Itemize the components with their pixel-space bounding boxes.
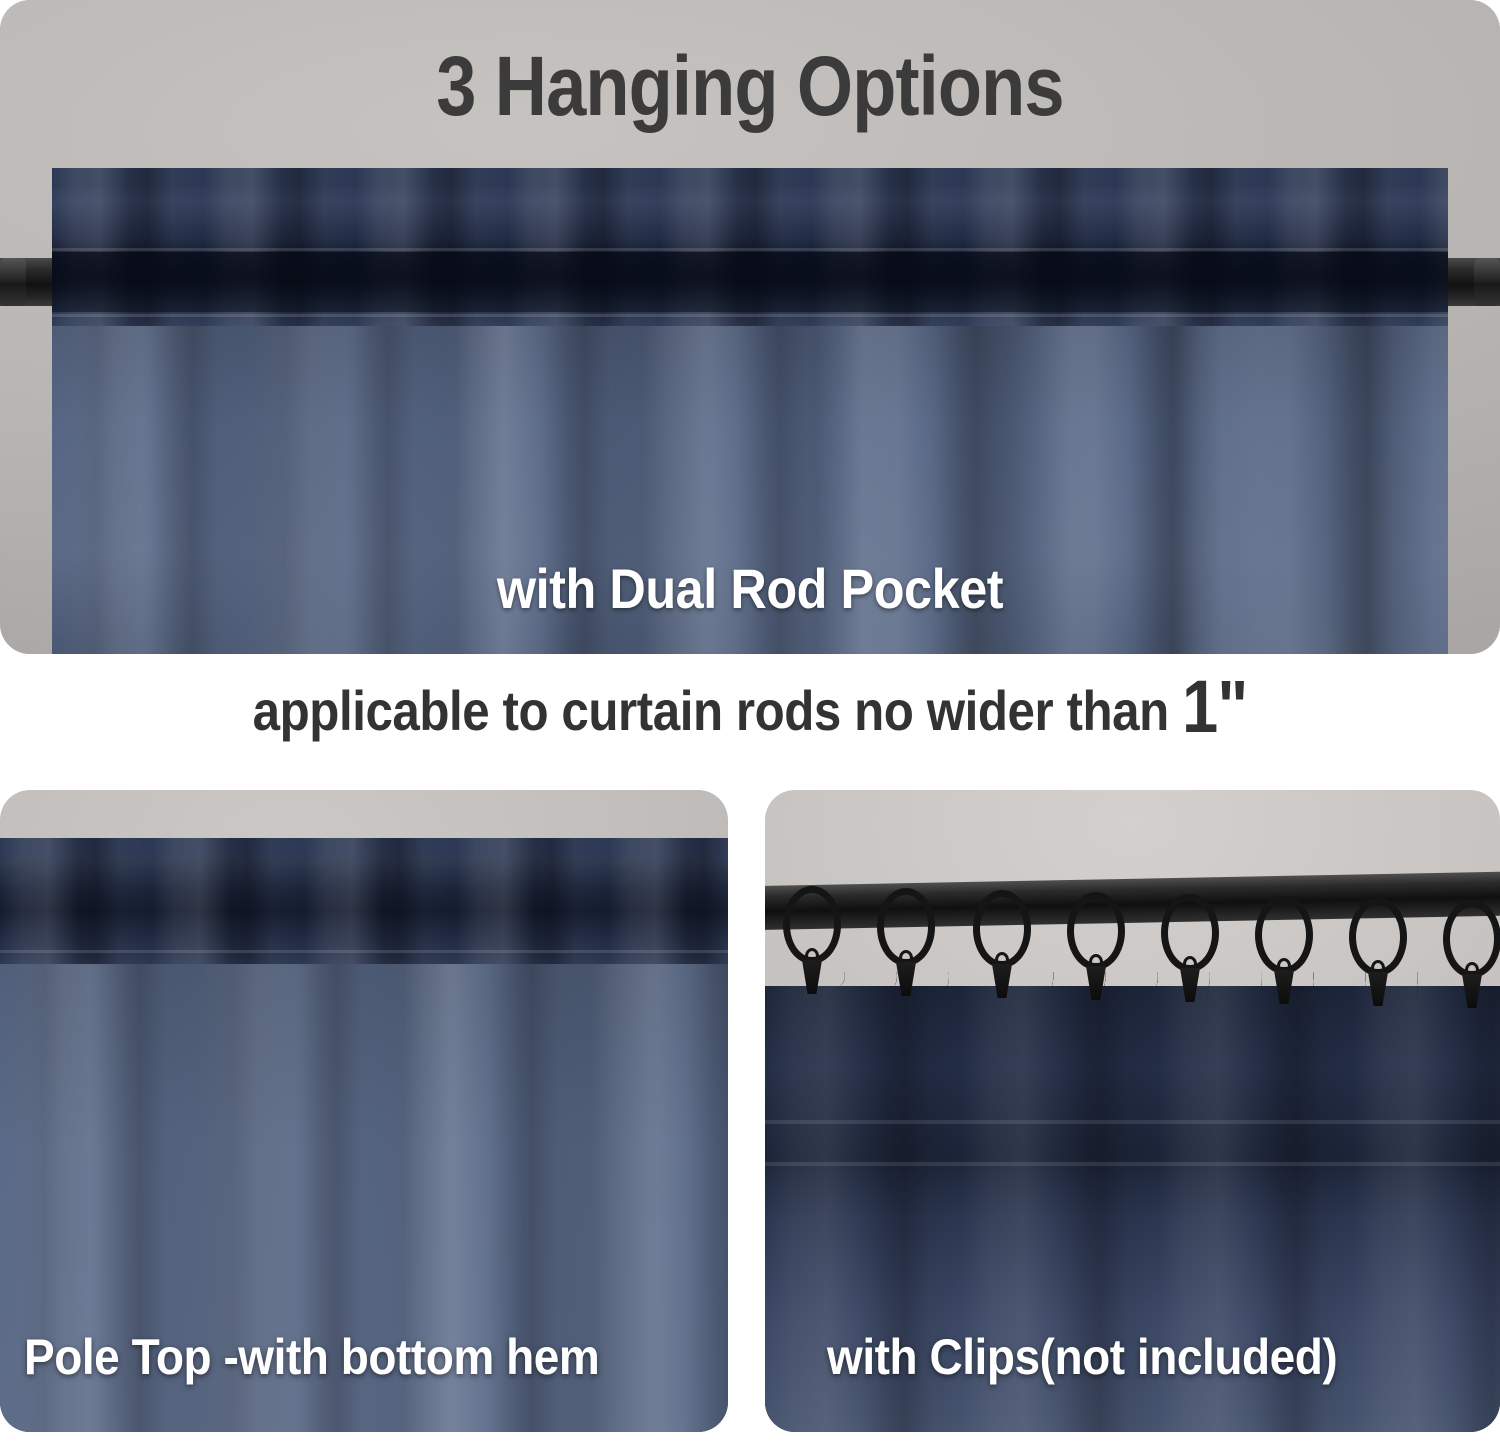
panel-pole-top: Pole Top -with bottom hem xyxy=(0,790,728,1432)
infographic-board: 3 Hanging Options with Dual Rod Pocket a… xyxy=(0,0,1500,1446)
rod-pocket-header-bottom-left xyxy=(0,838,728,964)
rod-end-cap-left-icon xyxy=(0,258,26,306)
rod-width-note-text: applicable to curtain rods no wider than xyxy=(253,679,1182,742)
rod-end-cap-right-icon xyxy=(1474,258,1500,306)
rod-width-measure: 1" xyxy=(1182,665,1247,748)
stitch-line-lower xyxy=(52,314,1448,317)
header-ruffle-overlay-bl xyxy=(0,838,728,964)
caption-with-clips: with Clips(not included) xyxy=(827,1328,1337,1386)
panel-with-clips: with Clips(not included) xyxy=(765,790,1500,1432)
stitch-line-bl xyxy=(0,950,728,953)
page-title: 3 Hanging Options xyxy=(105,38,1395,135)
curtain-hemline-upper xyxy=(765,1120,1500,1124)
rod-pocket-header xyxy=(52,168,1448,326)
curtain-hemline-lower xyxy=(765,1162,1500,1166)
stitch-line-upper xyxy=(52,248,1448,251)
panel-dual-rod-pocket: 3 Hanging Options with Dual Rod Pocket xyxy=(0,0,1500,654)
rod-shadow-band xyxy=(52,252,1448,312)
caption-dual-rod-pocket: with Dual Rod Pocket xyxy=(75,556,1425,621)
caption-rod-width-note: applicable to curtain rods no wider than… xyxy=(90,664,1410,749)
curtain-top-edge-scallop-br xyxy=(765,972,1500,1002)
caption-pole-top: Pole Top -with bottom hem xyxy=(24,1328,599,1386)
